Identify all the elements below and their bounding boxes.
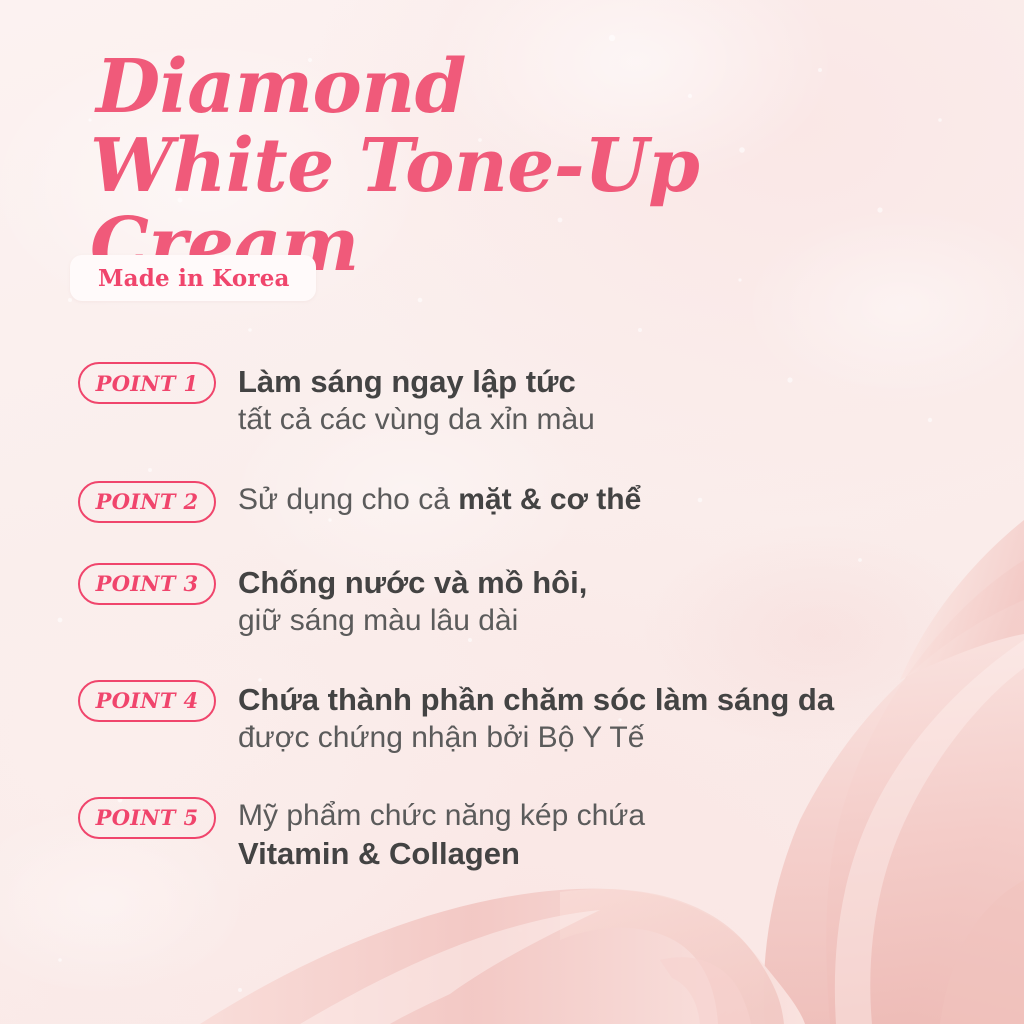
- point-item-4: POINT 4 Chứa thành phần chăm sóc làm sán…: [0, 680, 1024, 757]
- point-2-regular-part: Sử dụng cho cả: [238, 483, 458, 516]
- point-item-1: POINT 1 Làm sáng ngay lập tức tất cả các…: [0, 362, 1024, 439]
- point-item-2: POINT 2 Sử dụng cho cả mặt & cơ thể: [0, 481, 1024, 523]
- point-item-5: POINT 5 Mỹ phẩm chức năng kép chứa Vitam…: [0, 797, 1024, 874]
- page-title: Diamond White Tone-Up Cream: [96, 48, 976, 286]
- point-badge-4: POINT 4: [78, 680, 216, 722]
- point-item-3: POINT 3 Chống nước và mồ hôi, giữ sáng m…: [0, 563, 1024, 640]
- origin-badge: Made in Korea: [70, 255, 316, 301]
- point-badge-label-3: POINT 3: [96, 571, 199, 596]
- point-1-headline: Làm sáng ngay lập tức: [238, 362, 595, 401]
- point-badge-2: POINT 2: [78, 481, 216, 523]
- point-3-headline: Chống nước và mồ hôi,: [238, 563, 587, 602]
- point-4-subline: được chứng nhận bởi Bộ Y Tế: [238, 719, 834, 757]
- point-1-subline: tất cả các vùng da xỉn màu: [238, 401, 595, 439]
- point-text-2: Sử dụng cho cả mặt & cơ thể: [238, 481, 641, 519]
- point-badge-label-5: POINT 5: [96, 805, 199, 830]
- point-2-bold-part: mặt & cơ thể: [458, 483, 641, 516]
- point-text-5: Mỹ phẩm chức năng kép chứa Vitamin & Col…: [238, 797, 645, 874]
- point-text-3: Chống nước và mồ hôi, giữ sáng màu lâu d…: [238, 563, 587, 640]
- point-badge-label-2: POINT 2: [96, 489, 199, 514]
- product-promo-poster: Diamond White Tone-Up Cream Made in Kore…: [0, 0, 1024, 1024]
- point-badge-5: POINT 5: [78, 797, 216, 839]
- point-badge-1: POINT 1: [78, 362, 216, 404]
- origin-badge-label: Made in Korea: [98, 265, 290, 292]
- point-5-headline: Mỹ phẩm chức năng kép chứa: [238, 797, 645, 835]
- point-5-subline: Vitamin & Collagen: [238, 834, 645, 873]
- points-list: POINT 1 Làm sáng ngay lập tức tất cả các…: [0, 362, 1024, 873]
- point-2-headline: Sử dụng cho cả mặt & cơ thể: [238, 481, 641, 519]
- point-badge-label-1: POINT 1: [96, 371, 199, 396]
- point-4-headline: Chứa thành phần chăm sóc làm sáng da: [238, 680, 834, 719]
- point-badge-3: POINT 3: [78, 563, 216, 605]
- poster-content: Diamond White Tone-Up Cream Made in Kore…: [0, 0, 1024, 1024]
- point-text-4: Chứa thành phần chăm sóc làm sáng da đượ…: [238, 680, 834, 757]
- title-line-1: Diamond: [96, 48, 976, 127]
- point-3-subline: giữ sáng màu lâu dài: [238, 602, 587, 640]
- point-badge-label-4: POINT 4: [96, 688, 199, 713]
- point-text-1: Làm sáng ngay lập tức tất cả các vùng da…: [238, 362, 595, 439]
